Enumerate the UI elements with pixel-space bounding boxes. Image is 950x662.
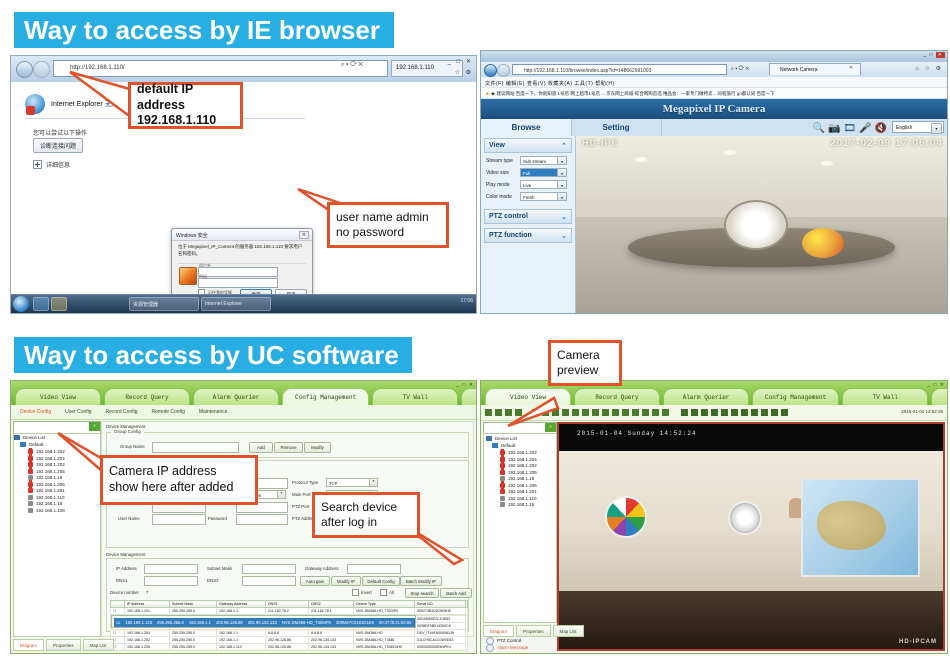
minimize-maximize-icons[interactable]: _ □ (923, 52, 933, 58)
all-checkbox[interactable]: All (380, 589, 394, 596)
add-group-button[interactable]: Add (249, 442, 273, 453)
tree-device-ip: 192.168.1.202 (508, 463, 537, 468)
tree-device-ip: 192.168.1.205 (508, 470, 537, 475)
taskbar-item[interactable]: Internet Explorer (201, 297, 271, 311)
cell-dns1: 8.8.8.8 (266, 630, 309, 637)
tree-device-node[interactable]: 192.168.1.201 (500, 489, 556, 494)
table-header-row: IP Address Subnet Mask Gateway Address D… (111, 601, 468, 608)
cell-dns1: 211.162.78.2 (266, 608, 309, 615)
tree-device-node[interactable]: 192.168.1.205 (500, 470, 556, 475)
dialog-title: Windows 安全 (172, 229, 312, 241)
default-config-button[interactable]: Default Config (362, 576, 400, 586)
cell-gateway: 192.168.1.1 (217, 630, 266, 637)
tree-device-ip: 192.168.1.110 (508, 496, 536, 501)
browser-tab[interactable]: Network Camera (769, 63, 861, 75)
chevron-down-icon[interactable]: ⌄ (561, 213, 567, 221)
ptz-control-header[interactable]: PTZ control ⌄ (484, 209, 572, 224)
cell-mac: 00:4c:4f:6p:06:2b (466, 644, 468, 651)
uc-side-panels: PTZ Control Alarm Message (483, 637, 555, 651)
camera-offline-icon (500, 496, 505, 501)
stream-type-select[interactable]: Sub stream ▾ (520, 156, 567, 165)
auto-gain-button[interactable]: Auto gain (300, 576, 330, 586)
play-mode-value: Live (523, 183, 531, 188)
subnet-mask-label: Subnet Mask (207, 566, 232, 571)
camera-web-screenshot: _ □ ✕ http://192.168.1.110/browse/index.… (480, 50, 948, 314)
tab-setting[interactable]: Setting (571, 119, 662, 136)
cell-dns2: 202.96.134.133 (309, 637, 354, 644)
cell-ip: 192.168.1.205 (125, 644, 170, 651)
tree-root-label: Device List (495, 436, 517, 441)
forward-icon[interactable] (497, 64, 510, 77)
camera-side-panel: View ⌃ Stream type Sub stream ▾ Video si… (481, 136, 576, 313)
cell-gateway: 192.168.1.1 (217, 637, 266, 644)
forward-icon[interactable] (33, 61, 50, 78)
ip-address-input[interactable] (144, 564, 198, 574)
ptz-control-label: PTZ control (489, 213, 528, 220)
cell-serial: 009274B101D905HE (415, 608, 466, 615)
language-select[interactable]: English ▾ (892, 121, 944, 133)
talk-icon[interactable] (572, 409, 579, 416)
protocol-type-label: Protocol Type (292, 480, 318, 485)
col-mac: MAC (466, 601, 468, 608)
col-device-type: Device Type (354, 601, 415, 608)
invert-checkbox[interactable]: Invert (352, 589, 372, 596)
callout-preview-line2: preview (557, 363, 619, 378)
osd-timestamp: 2017-02-09 17:06:04 (830, 138, 943, 149)
callout-preview-line1: Camera (557, 348, 619, 363)
tree-group[interactable]: Default (492, 443, 556, 448)
cell-dns1: 202.96.128.86 (213, 619, 245, 627)
camera-offline-icon (28, 508, 33, 513)
window-controls[interactable]: _ □ ✕ (923, 52, 945, 58)
table-row[interactable]: ☑ 192.168.1.123 255.255.255.0 192.168.1.… (111, 615, 416, 628)
ptz-function-label: PTZ function (489, 232, 532, 239)
internet-explorer-error-icon (25, 94, 45, 114)
uc-bottom-tabs: Diagram Properties Map List (483, 625, 584, 637)
cell-serial: 309M47C0101D1E5 (333, 619, 376, 627)
video-floor (559, 591, 943, 650)
camera-online-icon (28, 488, 33, 493)
tree-device-node[interactable]: 192.168.1.201 (28, 488, 98, 493)
video-size-row: Video size Full ▾ (486, 168, 572, 177)
row-checkbox[interactable]: ☐ (111, 630, 125, 637)
alarm-icon[interactable] (612, 409, 619, 416)
ptz-right-icon[interactable] (592, 409, 599, 416)
cell-type: NVS-DM366-HD_T536C0H0 (354, 644, 415, 651)
uc-bottom-tabs: Diagram Properties Map List (13, 639, 114, 651)
camera-offline-icon (500, 502, 505, 507)
cell-gateway: 192.168.1.1 (217, 608, 266, 615)
address-bar-controls[interactable]: ⌕ ▾ ⟳ ✕ (341, 62, 363, 69)
cell-mac: 00:5a:5c:b1:00:a4 (466, 608, 468, 615)
tree-device-node[interactable]: 192.168.1.15 (28, 501, 98, 506)
chevron-down-icon[interactable]: ▾ (557, 181, 566, 188)
tree-device-node[interactable]: 192.168.1.18 (28, 475, 98, 480)
table-row[interactable]: ☐ 192.168.1.204 255.255.255.0 192.168.1.… (111, 630, 468, 637)
cell-mac: 70:b0:60:ff:ff:8f (466, 630, 468, 637)
password-input[interactable] (236, 514, 288, 525)
subtab-maintenance[interactable]: Maintenance (193, 406, 234, 419)
tree-device-ip: 192.168.1.206 (508, 483, 537, 488)
color-mode-label: Color mode (486, 194, 520, 200)
play-mode-select[interactable]: Live ▾ (520, 180, 567, 189)
preset-icon[interactable] (652, 409, 659, 416)
cursor-icon[interactable] (485, 409, 492, 416)
taskbar-explorer-icon[interactable] (51, 297, 67, 311)
stream-type-label: Stream type (486, 158, 520, 164)
subtab-record-config[interactable]: Record Config (100, 406, 144, 419)
user-name-input[interactable] (152, 514, 206, 525)
chevron-up-icon[interactable]: ⌃ (561, 142, 567, 150)
remove-group-button[interactable]: Remove (274, 442, 303, 453)
expand-icon[interactable] (486, 644, 494, 652)
all-label: All (389, 590, 394, 595)
invert-label: Invert (361, 590, 372, 595)
callout-camera-ip-line2: show here after added (109, 480, 255, 496)
row-checkbox[interactable]: ☑ (114, 619, 123, 627)
modify-group-button[interactable]: Modify (304, 442, 331, 453)
close-icon[interactable]: ✕ (936, 52, 945, 58)
table-row[interactable]: ☐ 192.168.1.205 255.255.255.0 192.168.1.… (111, 644, 468, 651)
dns2-label: DNS2 (207, 578, 218, 583)
cell-mask: 255.255.255.0 (170, 630, 217, 637)
password-input[interactable] (198, 278, 278, 288)
cell-dns2: 202.96.134.133 (245, 619, 279, 627)
chevron-down-icon[interactable]: ▾ (277, 491, 285, 498)
col-ip-address: IP Address (125, 601, 170, 608)
tree-device-ip: 192.168.1.18 (36, 475, 62, 480)
tree-device-node[interactable]: 192.168.1.202 (500, 450, 556, 455)
tree-device-ip: 192.168.1.15 (36, 501, 62, 506)
cell-type: NVS-DM366-HD_T304IP0 (354, 608, 415, 615)
tree-device-ip: 192.168.1.201 (36, 488, 65, 493)
osd-camera-name: HD-IPC (582, 138, 619, 148)
callout-camera-preview: Camera preview (548, 340, 622, 386)
address-bar[interactable]: http://192.168.1.110/browse/index.asp?id… (512, 64, 727, 75)
chevron-down-icon[interactable]: ▾ (557, 169, 566, 176)
bottom-tab-map-list[interactable]: Map List (553, 625, 584, 637)
ptz-control-label: PTZ Control (497, 638, 521, 643)
subtab-device-config[interactable]: Device Config (14, 406, 57, 419)
bottom-tab-map-list[interactable]: Map List (83, 639, 114, 651)
stop-search-button[interactable]: Stop search (405, 588, 439, 598)
cell-dns2: 202.96.134.133 (309, 644, 354, 651)
live-video-pane[interactable]: 2015-01-04 Sunday 14:52:24 HD-IPCAM (557, 422, 945, 651)
table-row[interactable]: ☐ 192.168.1.201 255.255.255.0 192.168.1.… (111, 608, 468, 615)
select-all-column[interactable] (111, 601, 125, 608)
address-bar-controls[interactable]: ⌕ ▾ ⟳ ✕ (731, 66, 749, 72)
protocol-type-select[interactable]: TCP ▾ (326, 478, 378, 487)
osd-watermark: HD-IPCAM (899, 639, 937, 645)
dns1-input[interactable] (144, 576, 198, 586)
cell-serial: 0000000000E5NPE4 (415, 644, 466, 651)
device-tree: Device List Default 192.168.1.202 192.16… (486, 436, 556, 509)
cell-type: NVS-DM366-HD (354, 630, 415, 637)
layout-36-icon[interactable] (761, 409, 768, 416)
callout-camera-ip: Camera IP address show here after added (100, 455, 258, 505)
tree-device-node[interactable]: 192.168.1.18 (500, 476, 556, 481)
refresh-icon[interactable] (602, 409, 609, 416)
bottom-tab-diagram[interactable]: Diagram (13, 639, 44, 651)
callout-login-credentials: user name admin no password (327, 202, 449, 248)
browser-tool-icons[interactable]: ⌂ ☆ ⚙ (915, 65, 943, 72)
cell-serial: 011CH0CA1C0W0D43 (415, 637, 466, 644)
view-panel-header[interactable]: View ⌃ (484, 138, 572, 153)
banner-ie-label: Way to access by IE browser (24, 15, 380, 46)
audio-icon[interactable]: 🎤 (859, 123, 871, 134)
tree-device-ip: 192.168.1.206 (36, 482, 65, 487)
cell-gateway: 192.168.1.110 (217, 644, 266, 651)
layout-1-icon[interactable] (681, 409, 688, 416)
uc-title-bar: _ □ ✕ Video View Record Query Alarm Quer… (11, 381, 476, 405)
modify-ip-button[interactable]: Modify IP (331, 576, 361, 586)
device-list-icon (14, 435, 20, 440)
layout-8-icon[interactable] (711, 409, 718, 416)
callout-camera-ip-line1: Camera IP address (109, 464, 255, 480)
device-list-icon (486, 436, 492, 441)
bottom-tab-properties[interactable]: Properties (516, 625, 551, 637)
play-mode-label: Play mode (486, 182, 520, 188)
ptz-control-panel[interactable]: PTZ Control (483, 637, 555, 644)
layout-6-icon[interactable] (701, 409, 708, 416)
taskbar-clock: 17:06 (460, 298, 473, 304)
tree-group-label: Default (29, 442, 43, 447)
snapshot-icon[interactable]: 📷 (828, 123, 840, 134)
layout-custom-icon[interactable] (781, 409, 788, 416)
cell-mac: 00:47:f5:21:04:60 (376, 619, 414, 627)
layout-13-icon[interactable] (731, 409, 738, 416)
cell-gateway: 192.168.1.1 (186, 619, 213, 627)
tour-icon[interactable] (642, 409, 649, 416)
ip-address-label: IP Address (116, 566, 137, 571)
bottom-tab-properties[interactable]: Properties (46, 639, 81, 651)
main-port-label: Main Port (292, 492, 310, 497)
lock-icon[interactable] (662, 409, 669, 416)
camera-online-icon (500, 489, 505, 494)
dns1-label: DNS1 (116, 578, 127, 583)
col-dns2: DNS2 (309, 601, 354, 608)
video-size-label: Video size (486, 170, 520, 176)
record-icon[interactable]: 🎞 (843, 123, 856, 134)
cell-ip: 192.168.1.123 (123, 619, 155, 627)
subnet-mask-input[interactable] (242, 564, 296, 574)
camera-window-bar: _ □ ✕ (481, 51, 947, 62)
view-panel-label: View (489, 142, 505, 149)
chevron-down-icon[interactable]: ⌄ (561, 232, 567, 240)
color-mode-select[interactable]: Fresh ▾ (520, 192, 567, 201)
video-clock: 2015-01-04 14:52:26 (901, 409, 943, 414)
chevron-down-icon[interactable]: ▾ (557, 157, 566, 164)
col-gateway-address: Gateway Address (217, 601, 266, 608)
gateway-address-label: Gateway Address (305, 566, 339, 571)
browser-menubar[interactable]: 文件(F) 编辑(E) 查看(V) 收藏夹(A) 工具(T) 帮助(H) (481, 77, 947, 88)
device-search-table[interactable]: IP Address Subnet Mask Gateway Address D… (110, 600, 468, 651)
cell-dns2: 8.8.8.8 (309, 630, 354, 637)
camera-offline-icon (28, 501, 33, 506)
camera-online-icon (28, 469, 33, 474)
layout-64-icon[interactable] (771, 409, 778, 416)
taskbar-item[interactable]: 资源管理器 (129, 297, 199, 311)
fullscreen-icon[interactable] (622, 409, 629, 416)
col-serial-no: Serial NO. (415, 601, 466, 608)
ptz-port-label: PTZ Port (292, 504, 309, 509)
layout-9-icon[interactable] (721, 409, 728, 416)
camera-nav-bar: http://192.168.1.110/browse/index.asp?id… (481, 62, 947, 78)
col-dns1: DNS1 (266, 601, 309, 608)
camera-offline-icon (28, 495, 33, 500)
layout-4-icon[interactable] (691, 409, 698, 416)
play-mode-row: Play mode Live ▾ (486, 180, 572, 189)
cell-ip: 192.168.1.202 (125, 637, 170, 644)
device-number-value: 7 (146, 590, 148, 595)
callout-login-line2: no password (336, 225, 446, 240)
subtab-remote-config[interactable]: Remote Config (146, 406, 191, 419)
tree-device-node[interactable]: 192.168.1.110 (28, 495, 98, 500)
cell-ip: 192.168.1.201 (125, 608, 170, 615)
stream-type-value: Sub stream (523, 159, 546, 164)
username-input[interactable] (198, 267, 278, 277)
layout-25-icon[interactable] (751, 409, 758, 416)
tree-device-node[interactable]: 192.168.1.206 (500, 483, 556, 488)
leader-line-preview (500, 392, 570, 432)
callout-default-ip: default IP address 192.168.1.110 (128, 82, 243, 129)
favorites-items[interactable]: ★ 建议网站 百度一下，你就知道 1号店-网上超市1号店 ... 京东网上商城-… (491, 91, 775, 96)
bottom-tab-diagram[interactable]: Diagram (483, 625, 514, 637)
cell-mac: 00:4c:13:ac1:01:a2 (466, 637, 468, 644)
subtab-user-config[interactable]: User Config (59, 406, 97, 419)
banner-uc-label: Way to access by UC software (24, 340, 399, 371)
tree-root[interactable]: Device List (486, 436, 556, 441)
camera-online-icon (500, 470, 505, 475)
group-name-input[interactable] (152, 442, 239, 453)
taskbar-ie-icon[interactable] (33, 297, 49, 311)
cell-dns1: 202.96.128.86 (266, 637, 309, 644)
uc-sub-tabs: Device Config User Config Record Config … (11, 405, 477, 420)
checkbox-icon[interactable] (380, 589, 387, 596)
tree-device-node[interactable]: 192.168.1.15 (500, 502, 556, 507)
color-test-chart (605, 496, 647, 538)
window-controls[interactable]: _ □ ✕ (448, 58, 473, 65)
table-row[interactable]: ☐ 192.168.1.202 255.255.255.0 192.168.1.… (111, 637, 468, 644)
favorites-star-icon: ★ (485, 91, 490, 96)
tree-device-ip: 192.168.1.201 (508, 489, 537, 494)
callout-default-ip-line2: 192.168.1.110 (137, 113, 240, 129)
ceiling-light (821, 161, 833, 166)
tab-browse[interactable]: Browse (481, 119, 572, 136)
password-label: Password (208, 516, 227, 521)
dialog-message-main: 位于 Megapixel_IP_Camera 的服务器 192.168.1.11… (178, 244, 306, 257)
page-title: Megapixel IP Camera (481, 99, 947, 119)
ptz-function-header[interactable]: PTZ function ⌄ (484, 228, 572, 243)
cell-dns1: 202.96.128.86 (266, 644, 309, 651)
browser-tool-icons[interactable]: ☆ ⚙ (455, 69, 473, 76)
gateway-address-input[interactable] (347, 564, 401, 574)
layout-16-icon[interactable] (741, 409, 748, 416)
start-button-icon[interactable] (13, 296, 29, 312)
dialog-divider (178, 263, 306, 264)
live-video-view[interactable]: HD-IPC 2017-02-09 17:06:04 (576, 136, 947, 313)
color-mode-row: Color mode Fresh ▾ (486, 192, 572, 201)
favorites-bar[interactable]: ★ ★ 建议网站 百度一下，你就知道 1号店-网上超市1号店 ... 京东网上商… (481, 88, 947, 99)
poster-root: Way to access by IE browser http://192.1… (0, 0, 950, 662)
zoom-icon[interactable]: 🔍 (812, 123, 824, 134)
cell-type: NVS-DM366-HD_T3881 (354, 637, 415, 644)
cell-dns2: 211.162.78.1 (309, 608, 354, 615)
back-icon[interactable] (484, 64, 497, 77)
alarm-message-label: Alarm Message (497, 645, 528, 650)
cell-serial: DEV_IT44FA00008139 (415, 630, 466, 637)
color-mode-value: Fresh (523, 195, 535, 200)
tab-close-icon[interactable]: ✕ (849, 65, 853, 71)
ptz-left-icon[interactable] (582, 409, 589, 416)
osd-timestamp: 2015-01-04 Sunday 14:52:24 (577, 430, 697, 437)
tree-device-node[interactable]: 192.168.1.204 (500, 457, 556, 462)
tree-device-ip: 192.168.1.202 (508, 450, 537, 455)
chevron-down-icon[interactable]: ▾ (557, 193, 566, 200)
tree-device-node[interactable]: 192.168.1.108 (28, 508, 98, 513)
language-value: English (896, 125, 912, 131)
section-banner-ie: Way to access by IE browser (14, 12, 394, 48)
stream-type-row: Stream type Sub stream ▾ (486, 156, 572, 165)
col-subnet-mask: Subnet Mask (170, 601, 217, 608)
tree-device-node[interactable]: 192.168.1.110 (500, 496, 556, 501)
tree-device-node[interactable]: 192.168.1.202 (500, 463, 556, 468)
cell-mac: 00:b8:07:8f:42:2a (466, 616, 468, 623)
group-icon (20, 442, 26, 447)
expand-icon[interactable] (33, 160, 42, 169)
callout-search-line2: after log in (321, 515, 417, 530)
dns2-input[interactable] (242, 576, 296, 586)
video-size-select[interactable]: Full ▾ (520, 168, 567, 177)
callout-default-ip-line1: default IP address (137, 82, 240, 113)
search-section-heading: Device Management (106, 552, 145, 557)
settings-icon[interactable] (632, 409, 639, 416)
cell-ip: 192.168.1.204 (125, 630, 170, 637)
cell-type: NVS-DM366-HD_T306IP0 (279, 619, 333, 627)
tree-device-ip: 192.168.1.15 (508, 502, 534, 507)
alarm-message-panel[interactable]: Alarm Message (483, 644, 555, 651)
batch-modify-ip-button[interactable]: Batch Modify IP (400, 576, 442, 586)
cell-mask: 255.255.255.0 (155, 619, 187, 627)
chevron-down-icon[interactable]: ▾ (931, 123, 942, 134)
cell-serial: 00D4M64E2C10D53 (415, 616, 466, 623)
protocol-type-value: TCP (329, 481, 337, 486)
cell-mac: 00:cf:5b:30:50:50 (466, 623, 468, 630)
close-icon[interactable]: ✕ (299, 231, 309, 239)
test-chart (724, 200, 788, 250)
user-name-label: User Name (118, 516, 140, 521)
credential-icon (179, 267, 197, 285)
tree-device-ip: 192.168.1.110 (36, 495, 64, 500)
cell-serial: 0038DF3B014300C6 (415, 623, 466, 630)
checkbox-icon[interactable] (352, 589, 359, 596)
cell-mask: 255.255.255.0 (170, 608, 217, 615)
dialog-message: 位于 Megapixel_IP_Camera 的服务器 192.168.1.11… (178, 244, 306, 257)
tree-device-node[interactable]: 192.168.1.206 (28, 482, 98, 487)
mute-icon[interactable]: 🔇 (875, 123, 887, 134)
device-number-label: Device number (110, 590, 139, 595)
chevron-down-icon[interactable]: ▾ (369, 479, 377, 486)
tree-device-ip: 192.168.1.108 (36, 508, 65, 513)
callout-search-line1: Search device (321, 500, 417, 515)
tree-device-ip: 192.168.1.18 (508, 476, 534, 481)
world-map-poster (801, 478, 920, 577)
row-checkbox[interactable]: ☐ (111, 608, 125, 615)
callout-search-device: Search device after log in (312, 492, 420, 538)
callout-login-line1: user name admin (336, 210, 446, 225)
batch-add-button[interactable]: Batch Add (440, 588, 472, 598)
back-icon[interactable] (16, 61, 33, 78)
